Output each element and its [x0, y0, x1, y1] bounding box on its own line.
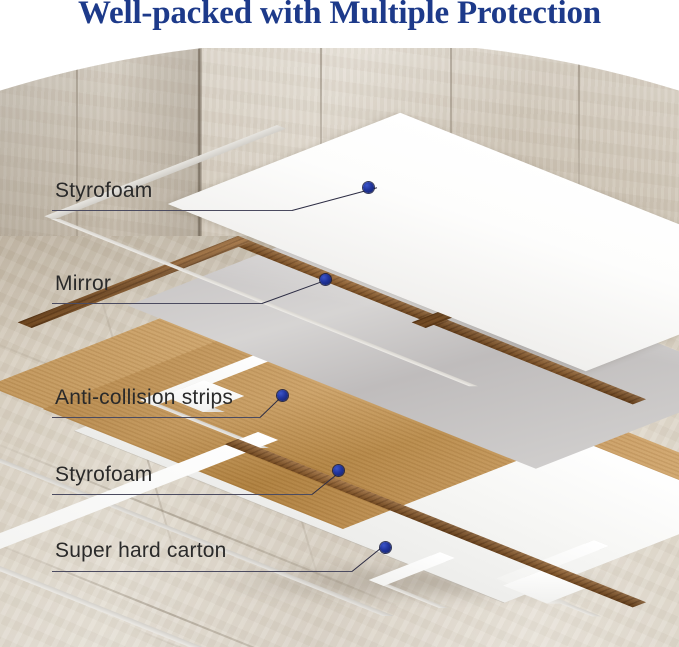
callout-rule	[52, 210, 292, 211]
callout-label: Mirror	[55, 272, 111, 296]
callout-dot	[380, 542, 391, 553]
callout-label: Anti-collision strips	[55, 386, 233, 410]
callout-label: Super hard carton	[55, 539, 227, 563]
page-title: Well-packed with Multiple Protection	[0, 0, 679, 32]
callout-dot	[320, 274, 331, 285]
callout-rule	[52, 494, 312, 495]
callout-rule	[52, 303, 262, 304]
callout-label: Styrofoam	[55, 463, 153, 487]
title-bar: Well-packed with Multiple Protection	[0, 0, 679, 48]
callout-dot	[363, 182, 374, 193]
callout-label: Styrofoam	[55, 179, 153, 203]
callout-rule	[52, 571, 352, 572]
callout-dot	[277, 390, 288, 401]
callout-rule	[52, 417, 260, 418]
packaging-infographic: Well-packed with Multiple Protection Sty…	[0, 0, 679, 647]
callout-dot	[333, 465, 344, 476]
